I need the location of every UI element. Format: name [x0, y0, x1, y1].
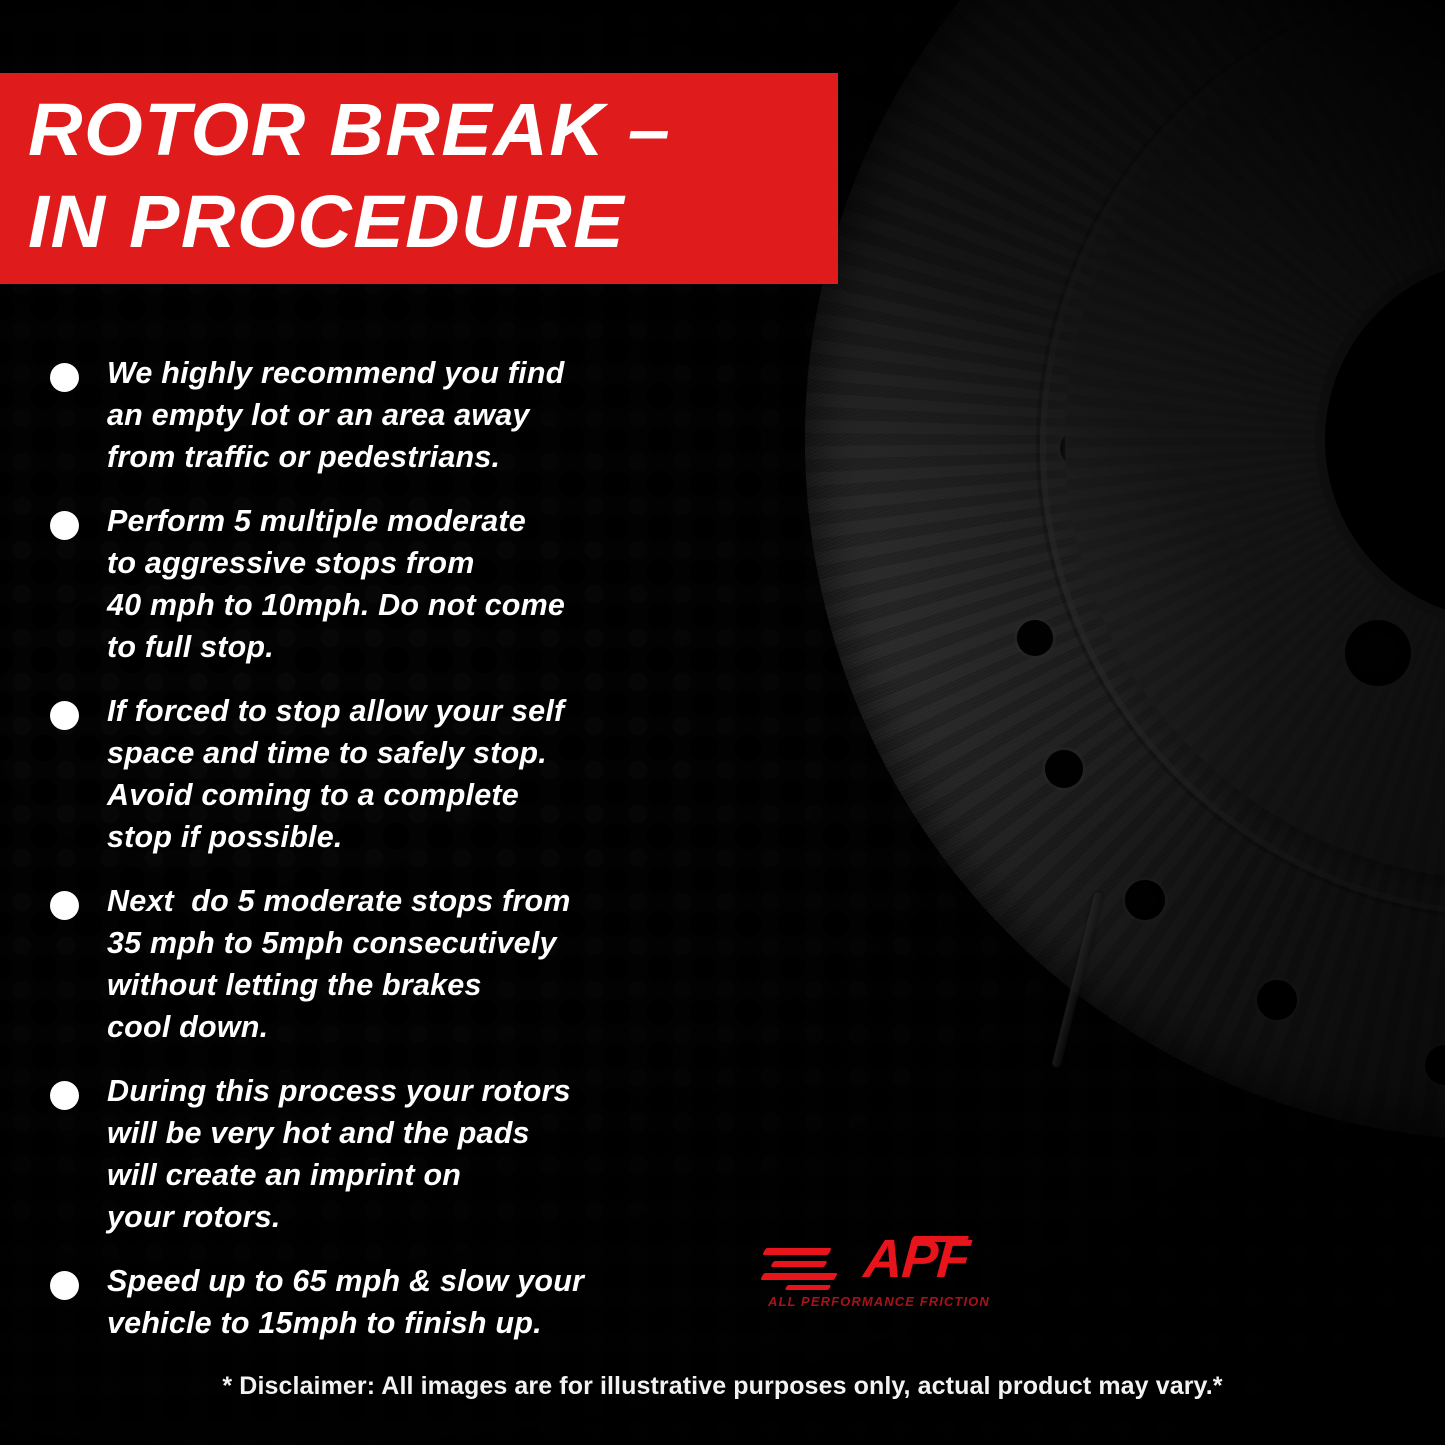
- bullet-dot-icon: [50, 1271, 79, 1300]
- list-item: During this process your rotors will be …: [50, 1070, 770, 1238]
- speed-streak-icon: [770, 1261, 827, 1267]
- apf-wordmark: APF: [862, 1230, 971, 1288]
- list-item: Next do 5 moderate stops from 35 mph to …: [50, 880, 770, 1048]
- list-item-text: During this process your rotors will be …: [107, 1070, 571, 1238]
- list-item: Speed up to 65 mph & slow your vehicle t…: [50, 1260, 770, 1344]
- bullet-dot-icon: [50, 891, 79, 920]
- list-item: We highly recommend you find an empty lo…: [50, 352, 770, 478]
- list-item-text: Next do 5 moderate stops from 35 mph to …: [107, 880, 571, 1048]
- list-item: Perform 5 multiple moderate to aggressiv…: [50, 500, 770, 668]
- list-item-text: Perform 5 multiple moderate to aggressiv…: [107, 500, 565, 668]
- list-item-text: If forced to stop allow your self space …: [107, 690, 564, 858]
- instructions-list: We highly recommend you find an empty lo…: [50, 352, 770, 1366]
- speed-streak-icon: [785, 1285, 832, 1290]
- bullet-dot-icon: [50, 1081, 79, 1110]
- poster-canvas: ROTOR BREAK – IN PROCEDURE We highly rec…: [0, 0, 1445, 1445]
- list-item-text: Speed up to 65 mph & slow your vehicle t…: [107, 1260, 584, 1344]
- apf-logo: APF ALL PERFORMANCE FRICTION: [762, 1232, 977, 1327]
- headline-banner: ROTOR BREAK – IN PROCEDURE: [0, 73, 838, 284]
- speed-streak-icon: [760, 1273, 838, 1280]
- list-item: If forced to stop allow your self space …: [50, 690, 770, 858]
- list-item-text: We highly recommend you find an empty lo…: [107, 352, 565, 478]
- bullet-dot-icon: [50, 511, 79, 540]
- disclaimer-text: * Disclaimer: All images are for illustr…: [0, 1372, 1445, 1401]
- apf-logo-mark: APF: [762, 1232, 977, 1294]
- speed-streak-icon: [762, 1248, 832, 1255]
- bullet-dot-icon: [50, 363, 79, 392]
- bullet-dot-icon: [50, 701, 79, 730]
- apf-tagline: ALL PERFORMANCE FRICTION: [768, 1294, 977, 1309]
- headline-line-2: IN PROCEDURE: [28, 176, 854, 268]
- headline-line-1: ROTOR BREAK –: [28, 84, 854, 176]
